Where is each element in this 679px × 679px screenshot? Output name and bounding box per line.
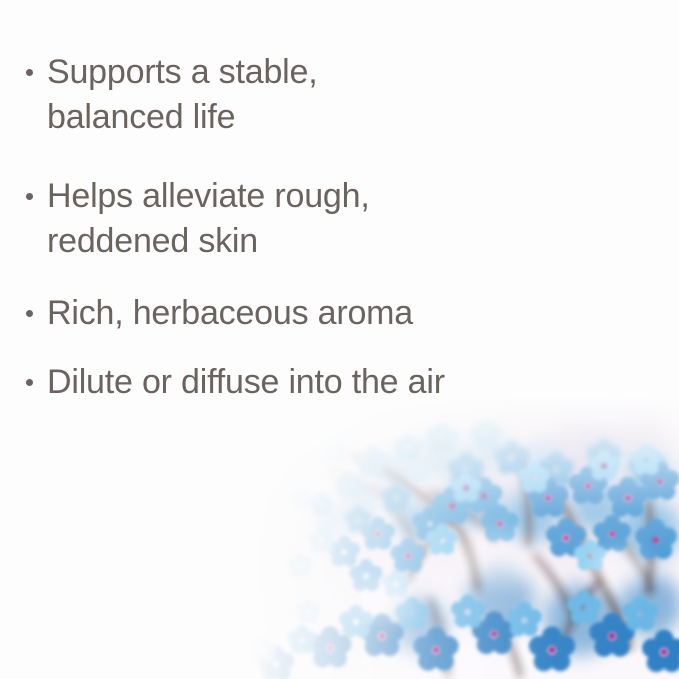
list-item: Dilute or diffuse into the air [26,360,445,405]
benefit-text: Helps alleviate rough, reddened skin [47,174,370,264]
list-item: Supports a stable, balanced life [26,50,317,140]
list-item: Helps alleviate rough, reddened skin [26,174,370,264]
bullet-dot-icon [26,69,33,76]
bullet-dot-icon [26,310,33,317]
bullet-dot-icon [26,379,33,386]
benefit-text: Rich, herbaceous aroma [47,291,413,336]
benefit-text: Supports a stable, balanced life [47,50,317,140]
benefit-text: Dilute or diffuse into the air [47,360,445,405]
list-item: Rich, herbaceous aroma [26,291,413,336]
product-benefits-card: Supports a stable, balanced life Helps a… [0,0,679,679]
bullet-dot-icon [26,193,33,200]
